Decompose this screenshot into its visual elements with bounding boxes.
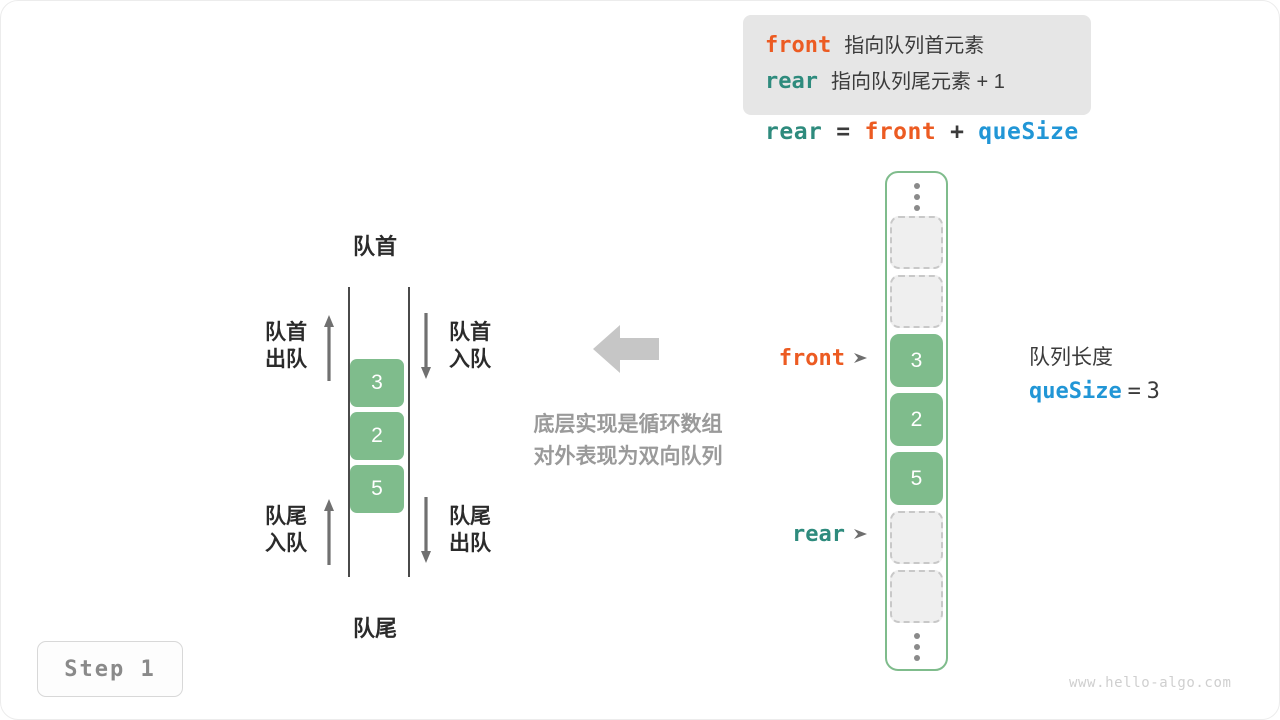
queue-size-value: 3 — [1147, 379, 1160, 404]
op-tail-enqueue-line1: 队尾 — [251, 503, 307, 530]
queue-size-equals: = — [1128, 379, 1141, 404]
maps-to-arrow-icon — [593, 323, 659, 380]
array-slot-6 — [890, 570, 943, 623]
pointer-front-arrow-icon — [853, 345, 869, 371]
deque-rail-right — [408, 287, 410, 577]
pointer-rear: rear — [749, 521, 869, 547]
array-ellipsis-bottom-icon — [890, 627, 943, 667]
arrow-down-tail-dequeue-icon — [419, 497, 433, 565]
pointer-legend-box: front 指向队列首元素 rear 指向队列尾元素 + 1 — [743, 15, 1091, 115]
legend-desc-front: 指向队列首元素 — [844, 29, 984, 58]
pointer-front-label: front — [779, 346, 845, 371]
formula-quesize: queSize — [978, 119, 1078, 145]
op-tail-dequeue-line1: 队尾 — [449, 503, 491, 530]
op-tail-dequeue-line2: 出队 — [449, 530, 491, 557]
watermark: www.hello-algo.com — [1069, 675, 1232, 691]
formula-rear-equals: rear = front + queSize — [765, 119, 1079, 145]
implementation-note: 底层实现是循环数组 对外表现为双向队列 — [501, 409, 755, 473]
formula-lhs: rear — [765, 119, 822, 145]
op-front-enqueue-line2: 入队 — [449, 346, 491, 373]
op-label-tail-enqueue: 队尾 入队 — [251, 503, 307, 557]
queue-size-label: 队列长度 — [1029, 341, 1160, 375]
op-label-tail-dequeue: 队尾 出队 — [449, 503, 491, 557]
pointer-rear-arrow-icon — [853, 521, 869, 547]
legend-row-rear: rear 指向队列尾元素 + 1 — [765, 65, 1091, 101]
arrow-up-front-dequeue-icon — [322, 313, 336, 381]
formula-equals: = — [836, 119, 850, 145]
legend-row-front: front 指向队列首元素 — [765, 29, 1091, 65]
array-slot-1 — [890, 275, 943, 328]
array-slot-5 — [890, 511, 943, 564]
diagram-canvas: front 指向队列首元素 rear 指向队列尾元素 + 1 rear = fr… — [0, 0, 1280, 720]
array-slot-4: 5 — [890, 452, 943, 505]
deque-cell-0: 3 — [350, 359, 404, 407]
arrow-up-tail-enqueue-icon — [322, 497, 336, 565]
legend-desc-rear: 指向队列尾元素 + 1 — [831, 65, 1005, 94]
queue-size-var: queSize — [1029, 379, 1122, 404]
array-ellipsis-top-icon — [890, 177, 943, 217]
deque-head-label: 队首 — [307, 229, 443, 261]
queue-size-note: 队列长度 queSize = 3 — [1029, 341, 1160, 409]
implementation-note-line1: 底层实现是循环数组 — [501, 409, 755, 441]
array-slot-3: 2 — [890, 393, 943, 446]
array-slot-0 — [890, 216, 943, 269]
step-badge: Step 1 — [37, 641, 183, 697]
formula-plus: + — [950, 119, 964, 145]
op-label-front-dequeue: 队首 出队 — [251, 319, 307, 373]
op-label-front-enqueue: 队首 入队 — [449, 319, 491, 373]
formula-front: front — [864, 119, 936, 145]
op-front-enqueue-line1: 队首 — [449, 319, 491, 346]
implementation-note-line2: 对外表现为双向队列 — [501, 441, 755, 473]
array-slot-2: 3 — [890, 334, 943, 387]
deque-cell-2: 5 — [350, 465, 404, 513]
pointer-rear-label: rear — [792, 522, 845, 547]
deque-cell-1: 2 — [350, 412, 404, 460]
deque-tail-label: 队尾 — [307, 611, 443, 643]
legend-token-front: front — [765, 33, 831, 58]
op-front-dequeue-line1: 队首 — [251, 319, 307, 346]
op-front-dequeue-line2: 出队 — [251, 346, 307, 373]
arrow-down-front-enqueue-icon — [419, 313, 433, 381]
pointer-front: front — [749, 345, 869, 371]
legend-token-rear: rear — [765, 69, 818, 94]
op-tail-enqueue-line2: 入队 — [251, 530, 307, 557]
